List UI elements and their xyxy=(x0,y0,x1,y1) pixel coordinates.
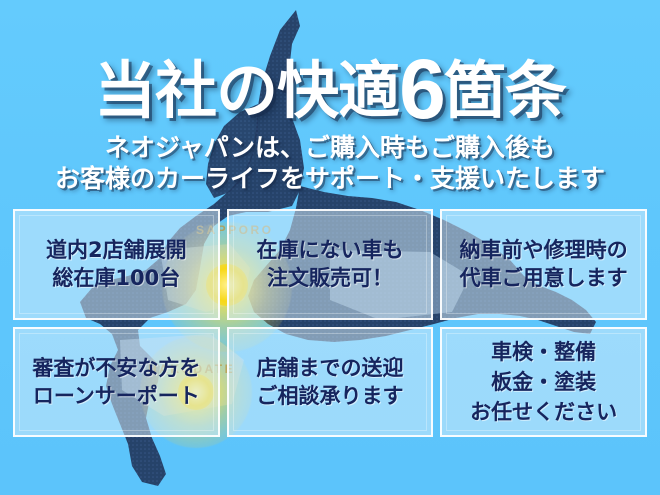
headline-prefix: 当社の快適 xyxy=(94,54,399,127)
feature-stores-text: 道内2店舗展開 総在庫100台 xyxy=(46,236,187,292)
feature-line: ご相談承ります xyxy=(256,382,403,410)
feature-line: 納車前や修理時の xyxy=(460,236,628,264)
feature-line: 店舗までの送迎 xyxy=(256,354,403,382)
feature-pickup-service-text: 店舗までの送迎 ご相談承ります xyxy=(256,354,403,410)
feature-order-sales: 在庫にない車も 注文販売可！ xyxy=(227,209,434,320)
feature-line: 車検・整備 xyxy=(470,337,617,367)
feature-grid: 道内2店舗展開 総在庫100台 在庫にない車も 注文販売可！ 納車前や修理時の … xyxy=(13,209,647,437)
banner-headline: 当社の快適6箇条 xyxy=(0,56,660,123)
subtitle-line-1: ネオジャパンは、ご購入時もご購入後も xyxy=(0,132,660,163)
headline-suffix: 箇条 xyxy=(444,54,566,127)
feature-line: 注文販売可！ xyxy=(256,264,403,292)
feature-loaner-car-text: 納車前や修理時の 代車ご用意します xyxy=(460,236,628,292)
feature-line: 総在庫100台 xyxy=(46,264,187,292)
feature-line: お任せください xyxy=(470,397,617,427)
promo-banner: SAPPORO HAKODATE 当社の快適6箇条 ネオジャパンは、ご購入時もご… xyxy=(0,0,660,495)
feature-line: ローンサーポート xyxy=(32,382,200,410)
feature-loaner-car: 納車前や修理時の 代車ご用意します xyxy=(440,209,647,320)
banner-subtitle: ネオジャパンは、ご購入時もご購入後も お客様のカーライフをサポート・支援いたしま… xyxy=(0,132,660,194)
feature-line: 代車ご用意します xyxy=(460,264,628,292)
feature-loan-support: 審査が不安な方を ローンサーポート xyxy=(13,327,220,438)
feature-line: 道内2店舗展開 xyxy=(46,236,187,264)
feature-order-sales-text: 在庫にない車も 注文販売可！ xyxy=(256,236,403,292)
subtitle-line-2: お客様のカーライフをサポート・支援いたします xyxy=(0,163,660,194)
feature-line: 審査が不安な方を xyxy=(32,354,200,382)
feature-inspection-bodywork-text: 車検・整備 板金・塗装 お任せください xyxy=(470,337,617,427)
feature-line: 在庫にない車も xyxy=(256,236,403,264)
feature-inspection-bodywork: 車検・整備 板金・塗装 お任せください xyxy=(440,327,647,438)
headline-number: 6 xyxy=(399,42,444,136)
feature-loan-support-text: 審査が不安な方を ローンサーポート xyxy=(32,354,200,410)
feature-stores: 道内2店舗展開 総在庫100台 xyxy=(13,209,220,320)
feature-pickup-service: 店舗までの送迎 ご相談承ります xyxy=(227,327,434,438)
feature-line: 板金・塗装 xyxy=(470,367,617,397)
